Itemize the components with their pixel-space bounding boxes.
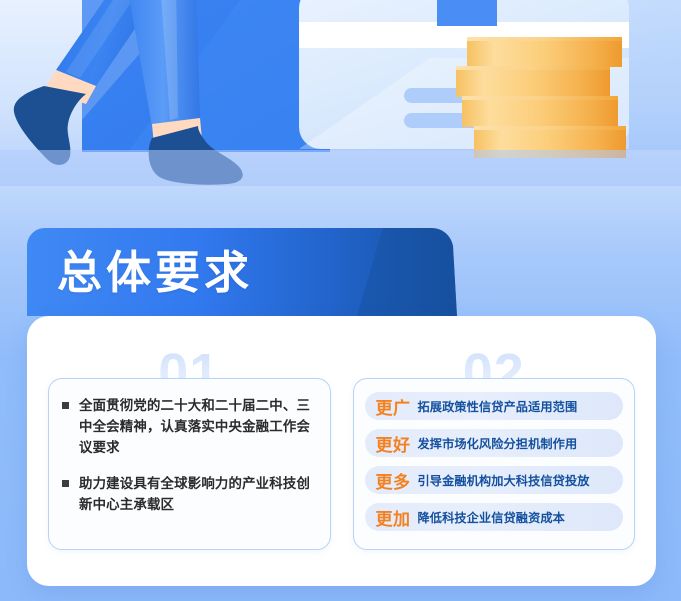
list-item: 更多 引导金融机构加大科技信贷投放 [365,466,624,494]
column-02: 02 更广 拓展政策性信贷产品适用范围 更好 发挥市场化风险分担机制作用 更多 … [353,348,636,558]
bullet-card: 全面贯彻党的二十大和二十届二中、三中全会精神，认真落实中央金融工作会议要求 助力… [48,378,331,550]
pill-text: 发挥市场化风险分担机制作用 [418,434,578,452]
column-01: 01 全面贯彻党的二十大和二十届二中、三中全会精神，认真落实中央金融工作会议要求… [48,348,331,558]
square-bullet-icon [62,480,69,487]
pill-text: 引导金融机构加大科技信贷投放 [418,471,590,489]
hero-illustration [0,0,681,186]
list-item: 助力建设具有全球影响力的产业科技创新中心主承载区 [62,473,316,515]
coin-stack-graphic [456,37,626,158]
pill-key: 更好 [376,431,411,456]
pill-text: 降低科技企业信贷融资成本 [418,508,565,526]
pill-card: 更广 拓展政策性信贷产品适用范围 更好 发挥市场化风险分担机制作用 更多 引导金… [353,378,636,550]
square-bullet-icon [62,402,69,409]
bullet-text: 助力建设具有全球影响力的产业科技创新中心主承载区 [79,476,310,512]
pill-text: 拓展政策性信贷产品适用范围 [418,397,578,415]
list-item: 更广 拓展政策性信贷产品适用范围 [365,392,624,420]
columns-container: 01 全面贯彻党的二十大和二十届二中、三中全会精神，认真落实中央金融工作会议要求… [27,348,656,558]
pill-key: 更加 [376,505,411,530]
list-item: 全面贯彻党的二十大和二十届二中、三中全会精神，认真落实中央金融工作会议要求 [62,395,316,458]
pill-key: 更广 [376,394,411,419]
page-title: 总体要求 [57,244,253,302]
pill-key: 更多 [376,468,411,493]
bullet-text: 全面贯彻党的二十大和二十届二中、三中全会精神，认真落实中央金融工作会议要求 [79,398,310,455]
pill-list: 更广 拓展政策性信贷产品适用范围 更好 发挥市场化风险分担机制作用 更多 引导金… [354,379,635,544]
infographic-page: 总体要求 01 全面贯彻党的二十大和二十届二中、三中全会精神，认真落实中央金融工… [0,0,681,601]
list-item: 更好 发挥市场化风险分担机制作用 [365,429,624,457]
list-item: 更加 降低科技企业信贷融资成本 [365,503,624,531]
bullet-list: 全面贯彻党的二十大和二十届二中、三中全会精神，认真落实中央金融工作会议要求 助力… [49,379,330,525]
